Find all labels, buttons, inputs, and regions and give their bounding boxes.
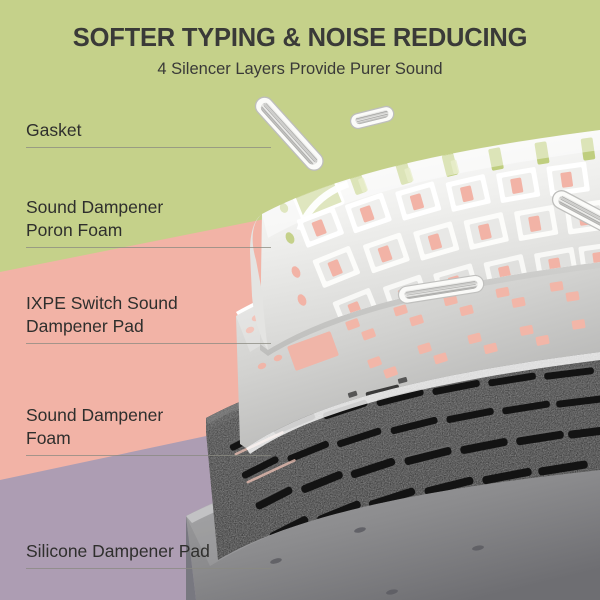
- callout-poron-foam-rule: [26, 247, 271, 248]
- callout-dampener-foam-label: Sound Dampener Foam: [26, 404, 271, 450]
- callout-ixpe-pad: IXPE Switch Sound Dampener Pad: [26, 292, 271, 344]
- gasket-strip-short: [349, 105, 395, 130]
- callout-ixpe-pad-label: IXPE Switch Sound Dampener Pad: [26, 292, 271, 338]
- callout-silicone-pad: Silicone Dampener Pad: [26, 540, 271, 569]
- callout-silicone-pad-rule: [26, 568, 271, 569]
- product-infographic: SOFTER TYPING & NOISE REDUCING 4 Silence…: [0, 0, 600, 600]
- callout-silicone-pad-label: Silicone Dampener Pad: [26, 540, 271, 563]
- callout-poron-foam-label: Sound Dampener Poron Foam: [26, 196, 271, 242]
- callout-gasket: Gasket: [26, 119, 271, 148]
- callout-poron-foam: Sound Dampener Poron Foam: [26, 196, 271, 248]
- callout-dampener-foam-rule: [26, 455, 271, 456]
- callout-ixpe-pad-rule: [26, 343, 271, 344]
- header: SOFTER TYPING & NOISE REDUCING 4 Silence…: [0, 0, 600, 78]
- callout-dampener-foam: Sound Dampener Foam: [26, 404, 271, 456]
- page-title: SOFTER TYPING & NOISE REDUCING: [0, 0, 600, 52]
- page-subtitle: 4 Silencer Layers Provide Purer Sound: [0, 52, 600, 78]
- callout-gasket-rule: [26, 147, 271, 148]
- callout-gasket-label: Gasket: [26, 119, 271, 142]
